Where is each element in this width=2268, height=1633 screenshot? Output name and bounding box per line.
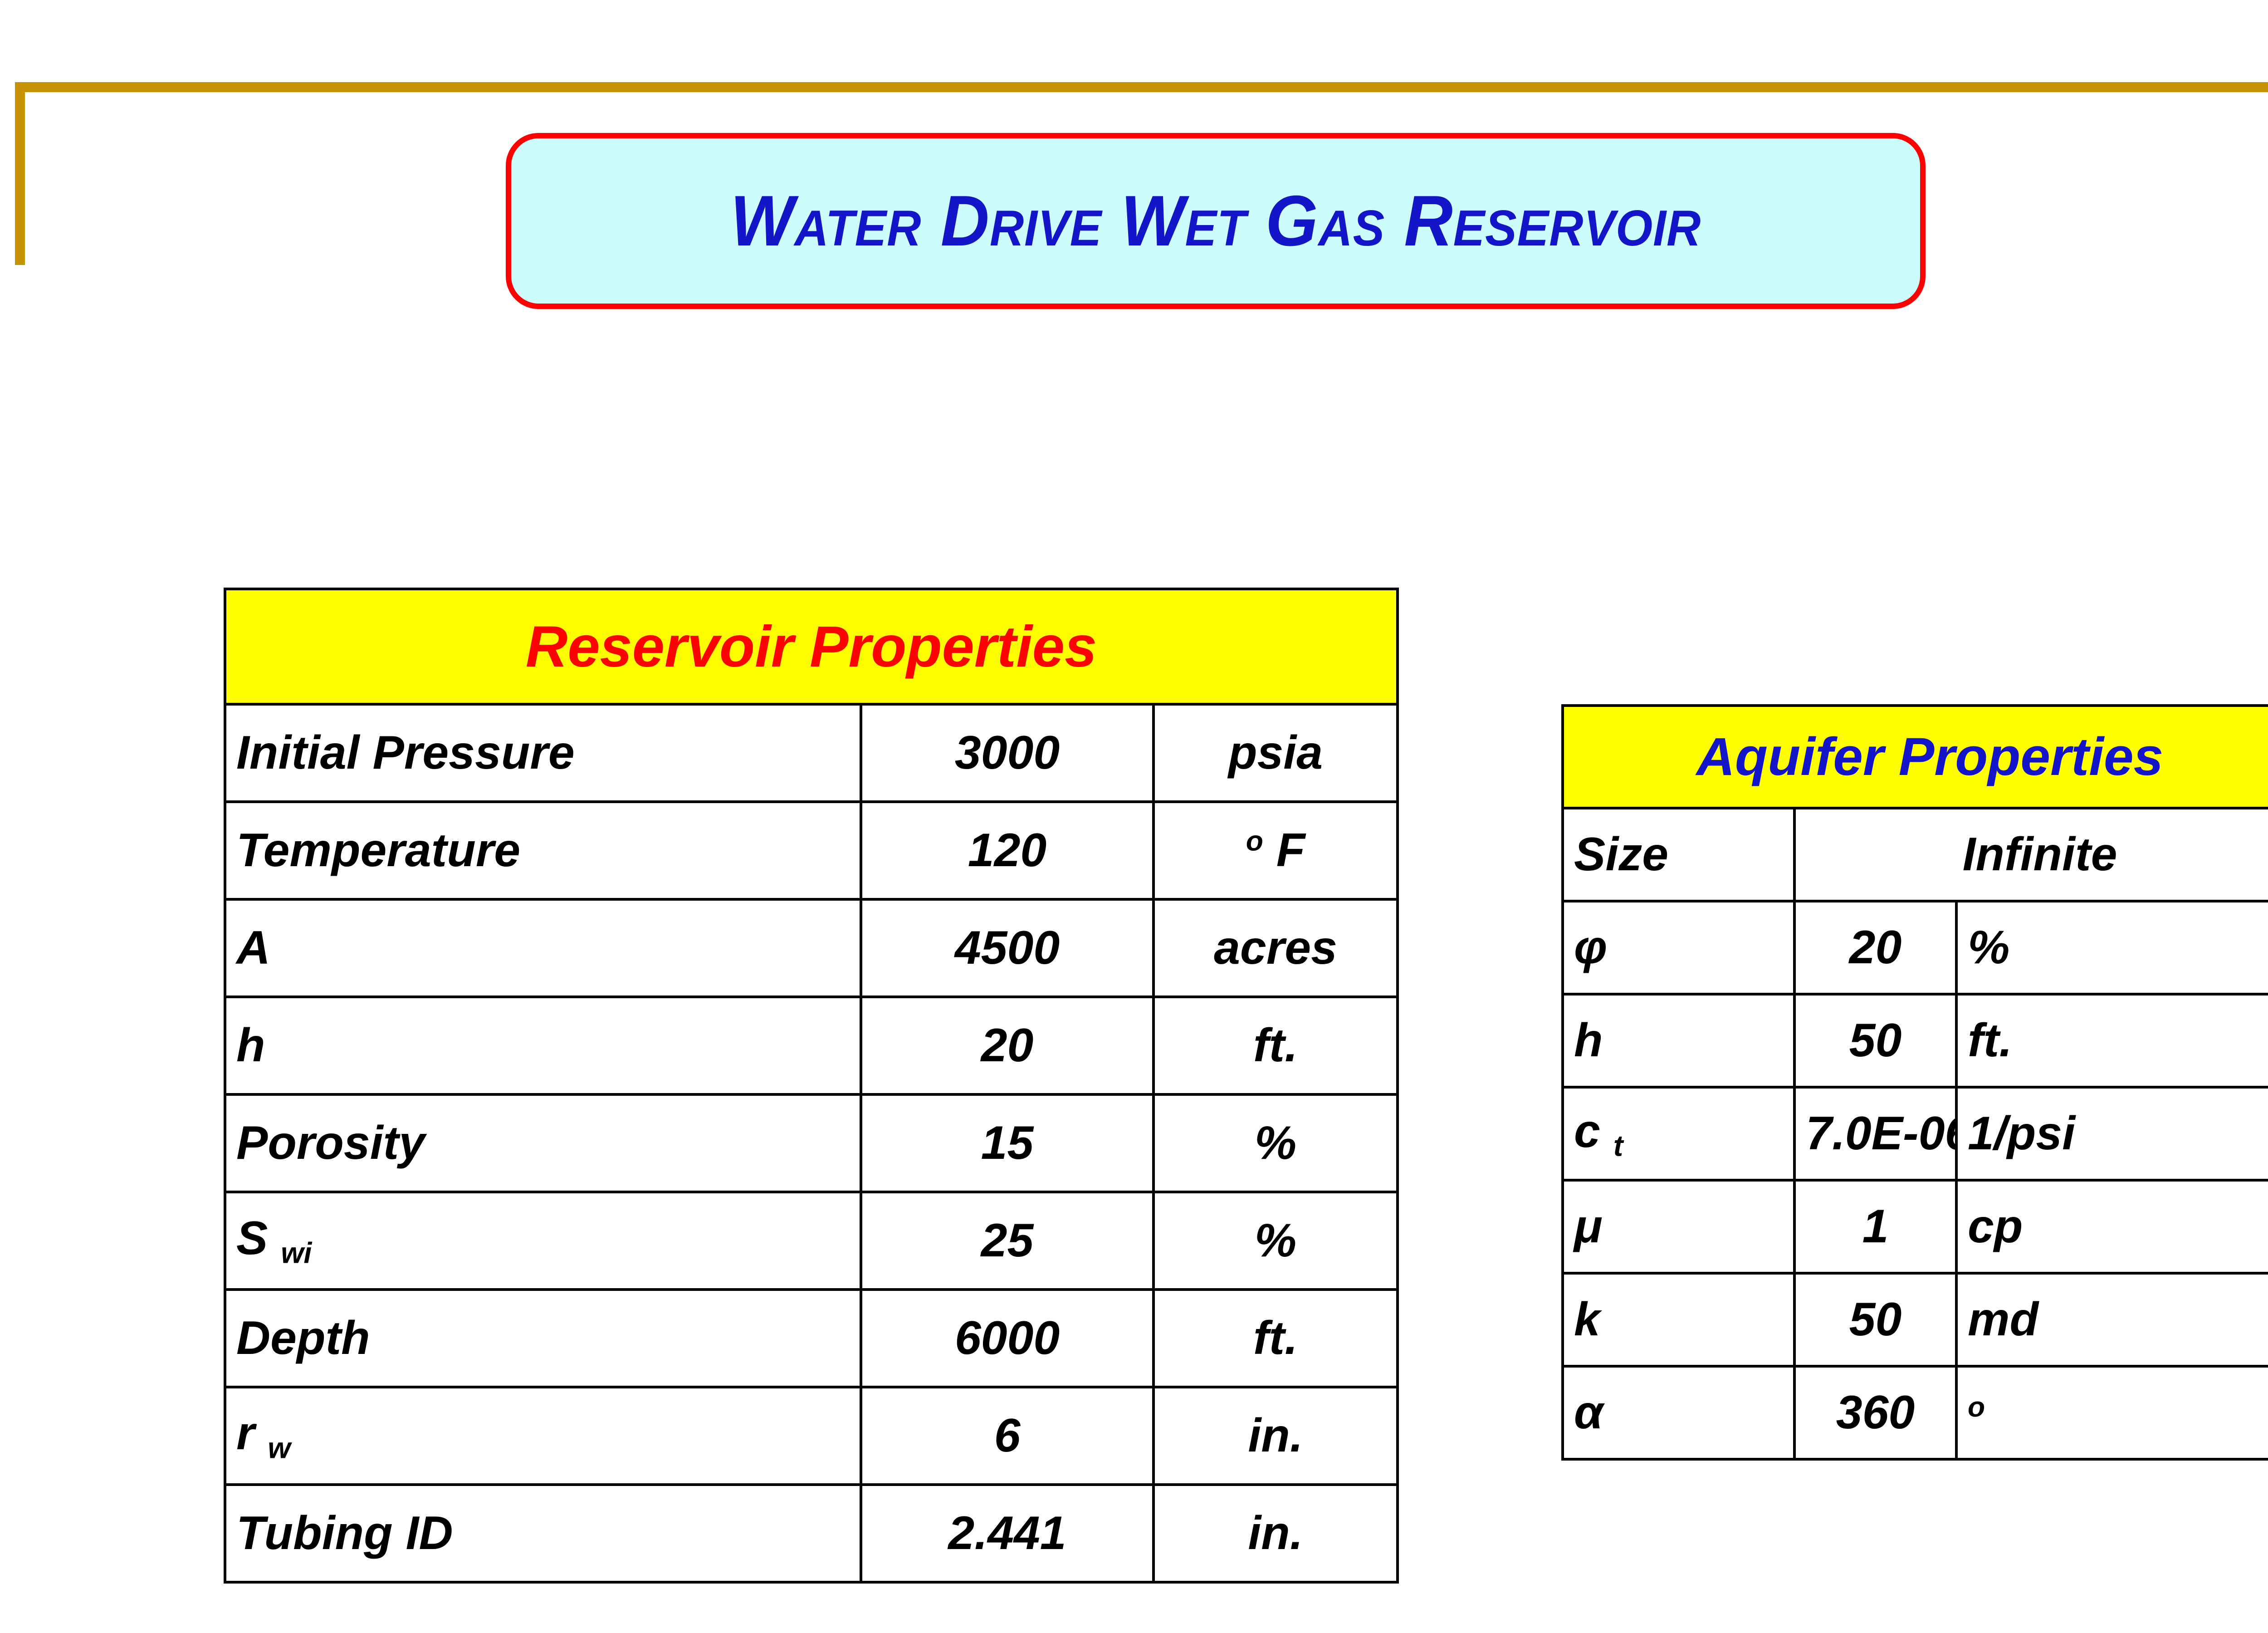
property-unit: % xyxy=(1154,1192,1398,1290)
property-label: S wi xyxy=(225,1192,861,1290)
table-row: μ1cp xyxy=(1563,1180,2268,1273)
property-label: Depth xyxy=(225,1290,861,1387)
property-label: h xyxy=(1563,994,1794,1087)
table-row: α360o xyxy=(1563,1366,2268,1459)
property-label: μ xyxy=(1563,1180,1794,1273)
table-row: S wi25% xyxy=(225,1192,1398,1290)
property-value: 120 xyxy=(861,802,1154,899)
reservoir-header-cell: Reservoir Properties xyxy=(225,589,1398,704)
decorative-rule-horizontal xyxy=(15,82,2268,92)
reservoir-header-row: Reservoir Properties xyxy=(225,589,1398,704)
table-row: Depth6000ft. xyxy=(225,1290,1398,1387)
property-value: 2.441 xyxy=(861,1485,1154,1582)
property-unit: o xyxy=(1956,1366,2268,1459)
property-unit: ft. xyxy=(1154,1290,1398,1387)
aquifer-size-value: Infinite xyxy=(1794,808,2268,901)
property-unit: cp xyxy=(1956,1180,2268,1273)
property-unit: acres xyxy=(1154,899,1398,997)
property-unit: ft. xyxy=(1956,994,2268,1087)
property-unit: % xyxy=(1956,901,2268,994)
property-label: k xyxy=(1563,1273,1794,1366)
property-value: 4500 xyxy=(861,899,1154,997)
table-row: A4500acres xyxy=(225,899,1398,997)
table-row: Tubing ID2.441in. xyxy=(225,1485,1398,1582)
property-unit: md xyxy=(1956,1273,2268,1366)
aquifer-size-label: Size xyxy=(1563,808,1794,901)
aquifer-properties-table: Aquifer PropertiesSizeInfiniteφ20%h50ft.… xyxy=(1561,704,2268,1461)
property-value: 25 xyxy=(861,1192,1154,1290)
aquifer-header-label: Aquifer Properties xyxy=(1685,727,2163,787)
table-row: c t7.0E-061/psi xyxy=(1563,1087,2268,1180)
aquifer-header-cell: Aquifer Properties xyxy=(1563,706,2268,808)
property-value: 50 xyxy=(1794,1273,1956,1366)
reservoir-properties-table: Reservoir PropertiesInitial Pressure3000… xyxy=(224,588,1399,1584)
property-label: h xyxy=(225,997,861,1094)
property-value: 6000 xyxy=(861,1290,1154,1387)
property-label: Temperature xyxy=(225,802,861,899)
property-label: α xyxy=(1563,1366,1794,1459)
property-value: 3000 xyxy=(861,704,1154,802)
property-unit: o F xyxy=(1154,802,1398,899)
property-value: 1 xyxy=(1794,1180,1956,1273)
property-value: 20 xyxy=(861,997,1154,1094)
table-row: Initial Pressure3000psia xyxy=(225,704,1398,802)
aquifer-header-row: Aquifer Properties xyxy=(1563,706,2268,808)
table-row: h20ft. xyxy=(225,997,1398,1094)
property-label: φ xyxy=(1563,901,1794,994)
property-unit: 1/psi xyxy=(1956,1087,2268,1180)
reservoir-header-label: Reservoir Properties xyxy=(526,614,1097,679)
table-row: Porosity15% xyxy=(225,1094,1398,1192)
page-title: Water Drive Wet Gas Reservoir xyxy=(730,185,1701,257)
property-unit: % xyxy=(1154,1094,1398,1192)
table-row: k50md xyxy=(1563,1273,2268,1366)
property-label: A xyxy=(225,899,861,997)
property-value: 6 xyxy=(861,1387,1154,1485)
property-label: Porosity xyxy=(225,1094,861,1192)
property-unit: in. xyxy=(1154,1387,1398,1485)
property-label: Tubing ID xyxy=(225,1485,861,1582)
property-value: 7.0E-06 xyxy=(1794,1087,1956,1180)
property-unit: psia xyxy=(1154,704,1398,802)
property-value: 20 xyxy=(1794,901,1956,994)
property-unit: ft. xyxy=(1154,997,1398,1094)
slide-title-banner: Water Drive Wet Gas Reservoir xyxy=(506,133,1926,309)
property-value: 360 xyxy=(1794,1366,1956,1459)
table-row: SizeInfinite xyxy=(1563,808,2268,901)
property-label: r w xyxy=(225,1387,861,1485)
decorative-rule-vertical xyxy=(15,82,25,265)
property-value: 50 xyxy=(1794,994,1956,1087)
property-label: c t xyxy=(1563,1087,1794,1180)
table-row: r w6in. xyxy=(225,1387,1398,1485)
property-label: Initial Pressure xyxy=(225,704,861,802)
table-row: h50ft. xyxy=(1563,994,2268,1087)
property-unit: in. xyxy=(1154,1485,1398,1582)
property-value: 15 xyxy=(861,1094,1154,1192)
table-row: φ20% xyxy=(1563,901,2268,994)
table-row: Temperature120o F xyxy=(225,802,1398,899)
